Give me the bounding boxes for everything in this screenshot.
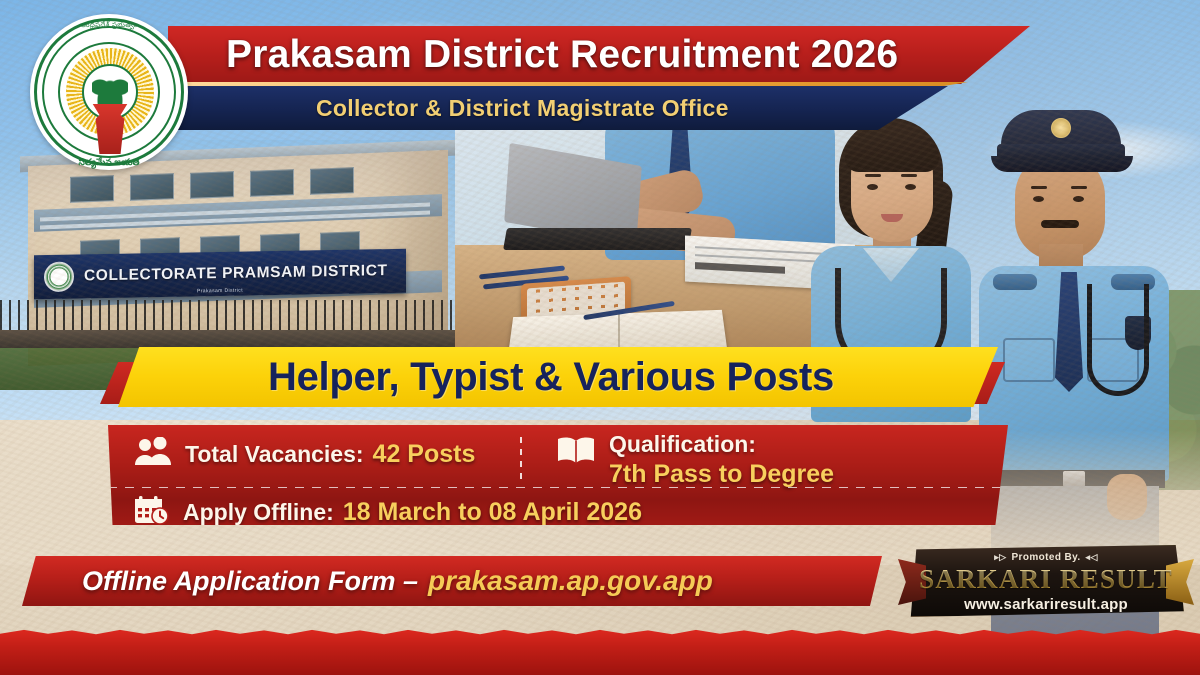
details-panel: Total Vacancies: 42 Posts Qualification:… (108, 425, 1008, 525)
emblem-telugu-top: ఆంధ్రప్రదేశ్ ప్రభుత్వం (24, 22, 194, 31)
laptop-keyboard (503, 228, 692, 250)
eyebrow (865, 174, 881, 177)
cap-badge-icon (1051, 118, 1071, 138)
mouth (881, 214, 903, 222)
building-window (250, 169, 294, 197)
officer-figure (975, 108, 1175, 538)
header-gold-rule (168, 82, 968, 86)
flag-icon: ▸▷ (994, 552, 1006, 562)
header-title-banner: Prakasam District Recruitment 2026 (168, 26, 1030, 84)
belt-buckle (1063, 471, 1085, 487)
state-emblem-icon: ఆంధ్రప్రదేశ్ ప్రభుత్వం సత్యమేవ జయతే (24, 8, 194, 176)
promoted-by-label: ▸▷Promoted By.◂◁ (908, 552, 1184, 563)
paper-line (695, 262, 785, 274)
building-window (70, 175, 114, 203)
post-names: Helper, Typist & Various Posts (268, 355, 834, 400)
moustache (1041, 220, 1079, 228)
page-title: Prakasam District Recruitment 2026 (226, 33, 898, 77)
collectorate-signboard: COLLECTORATE PRAMSAM DISTRICT Prakasam D… (34, 249, 406, 299)
vacancies-value: 42 Posts (373, 440, 476, 469)
eye (867, 184, 878, 190)
flag-icon: ◂◁ (1086, 552, 1098, 562)
application-form-url[interactable]: prakasam.ap.gov.app (428, 565, 713, 597)
brand-name: SARKARI RESULT (908, 564, 1184, 595)
eyebrow (901, 174, 917, 177)
brand-url[interactable]: www.sarkariresult.app (908, 596, 1184, 613)
calendar-clock-icon (134, 495, 170, 525)
building-fence-base (0, 330, 470, 348)
eye (1073, 196, 1084, 202)
emblem-telugu-bottom: సత్యమేవ జయతే (24, 157, 194, 170)
book-icon (556, 435, 596, 470)
sarkari-result-logo[interactable]: ▸▷Promoted By.◂◁ SARKARI RESULT www.sark… (908, 545, 1184, 617)
qualification-stack: Qualification: 7th Pass to Degree (609, 431, 834, 489)
application-form-bar[interactable]: Offline Application Form – prakasam.ap.g… (22, 556, 882, 606)
nurse-hair-front (845, 126, 939, 172)
building-window (130, 173, 174, 201)
officer-cap-band (997, 144, 1125, 160)
post-banner: Helper, Typist & Various Posts (118, 347, 998, 407)
lanyard (1087, 284, 1149, 396)
apply-dates-row: Apply Offline: 18 March to 08 April 2026 (134, 495, 642, 525)
people-icon (134, 437, 172, 472)
qualification-value: 7th Pass to Degree (609, 460, 834, 489)
apply-label: Apply Offline: (183, 499, 334, 525)
panel-divider (520, 437, 522, 483)
eyebrow (1031, 186, 1047, 189)
uniform-pocket (1003, 338, 1055, 382)
apply-value: 18 March to 08 April 2026 (343, 498, 642, 525)
vacancies-label: Total Vacancies: (185, 441, 364, 468)
eye (1033, 196, 1044, 202)
recruitment-poster: COLLECTORATE PRAMSAM DISTRICT Prakasam D… (0, 0, 1200, 675)
qualification-row: Qualification: 7th Pass to Degree (556, 431, 834, 489)
building-window (190, 171, 234, 199)
building-window (310, 167, 354, 195)
eye (905, 184, 916, 190)
signboard-subtext: Prakasam District (197, 288, 243, 295)
officer-hand (1107, 474, 1147, 520)
page-subtitle: Collector & District Magistrate Office (316, 95, 729, 122)
bottom-decorative-band (0, 627, 1200, 675)
application-form-label: Offline Application Form – (82, 566, 418, 597)
eyebrow (1071, 186, 1087, 189)
promoted-by-text: Promoted By. (1011, 552, 1080, 563)
vacancies-row: Total Vacancies: 42 Posts (134, 437, 475, 472)
qualification-label: Qualification: (609, 431, 834, 458)
epaulette (993, 274, 1037, 290)
signboard-text: COLLECTORATE PRAMSAM DISTRICT (84, 262, 388, 285)
header-subtitle-banner: Collector & District Magistrate Office (168, 86, 948, 130)
signboard-emblem-icon (44, 262, 74, 293)
